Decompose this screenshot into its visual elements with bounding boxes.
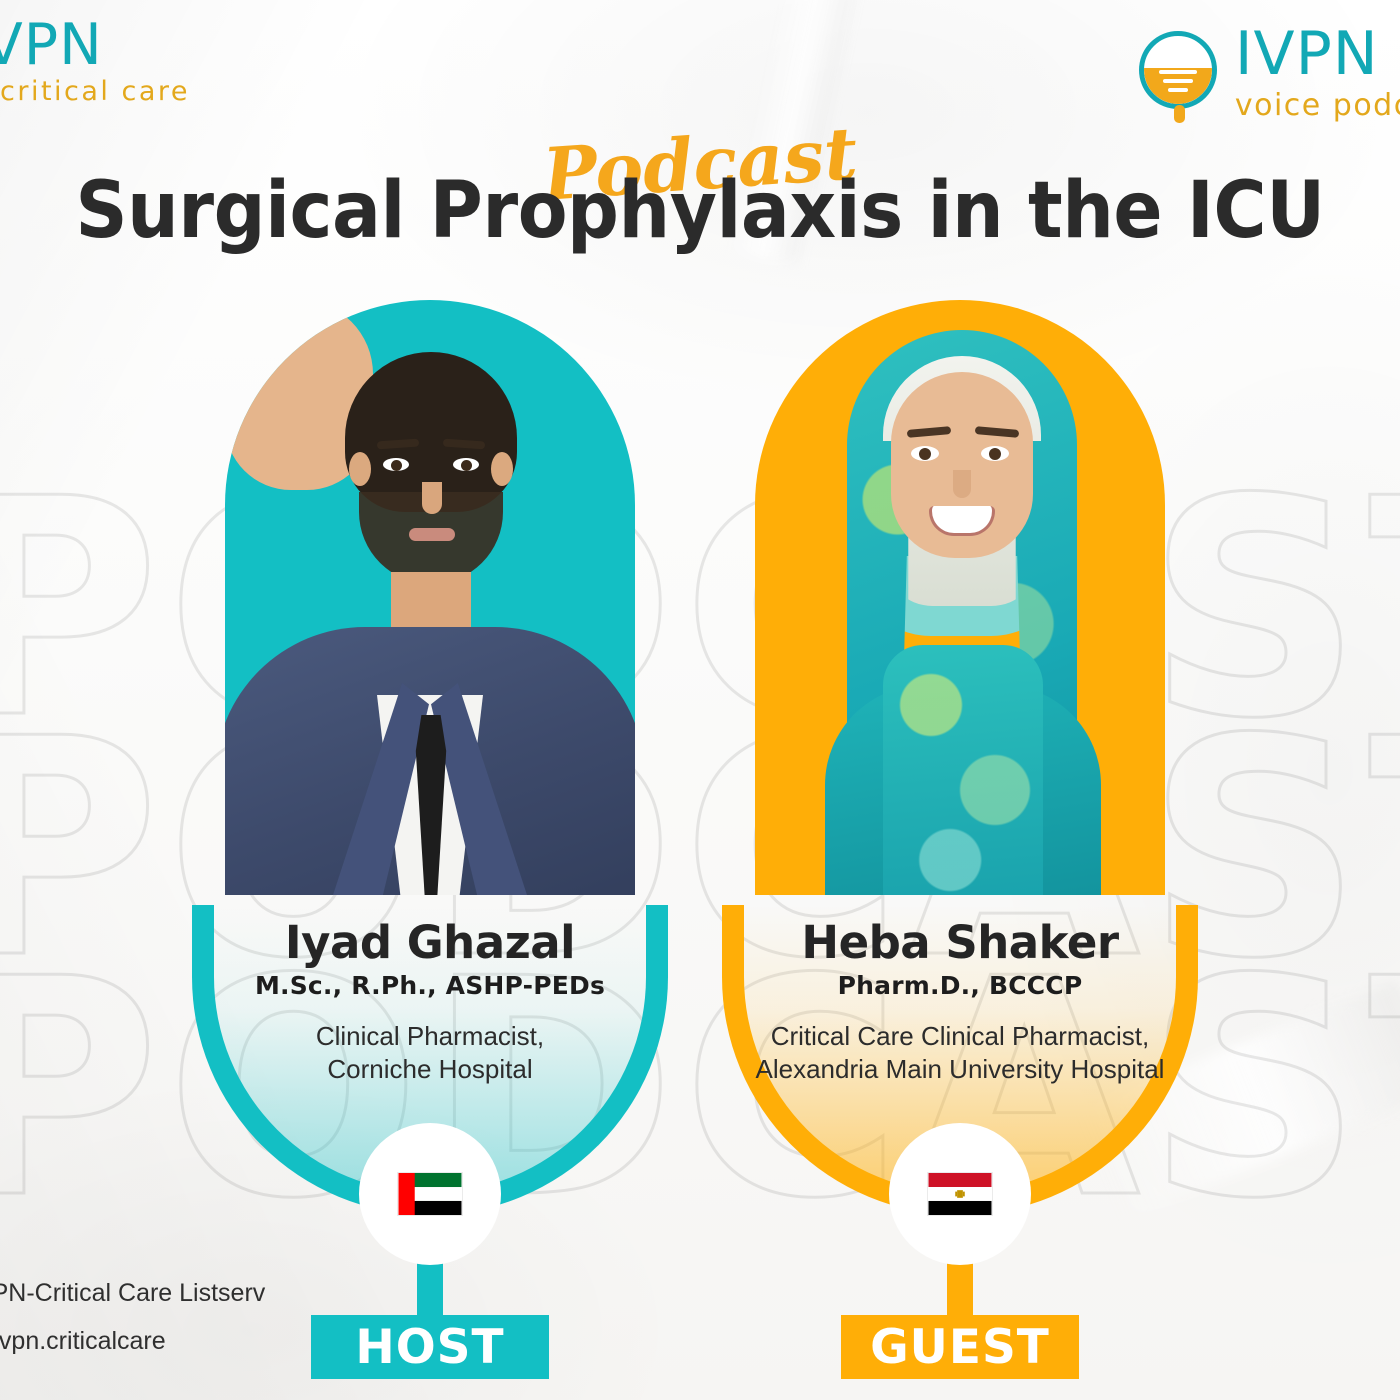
guest-role-badge: GUEST <box>841 1315 1079 1379</box>
guest-flag-disc <box>889 1123 1031 1265</box>
host-card: Iyad Ghazal M.Sc., R.Ph., ASHP-PEDs Clin… <box>170 300 690 1335</box>
guest-affiliation-line2: Alexandria Main University Hospital <box>740 1053 1180 1086</box>
guest-mic-stand: Heba Shaker Pharm.D., BCCCP Critical Car… <box>700 905 1220 1335</box>
logo-tagline: critical care <box>0 76 190 107</box>
logo-wordmark-right: IVPN <box>1235 24 1400 84</box>
host-role-label: HOST <box>355 1320 504 1375</box>
guest-credentials: Pharm.D., BCCCP <box>740 971 1180 1000</box>
footer-contact: IVPN-Critical Care Listserv @ivpn.critic… <box>0 1269 265 1367</box>
host-credentials: M.Sc., R.Ph., ASHP-PEDs <box>210 971 650 1000</box>
guest-card: Heba Shaker Pharm.D., BCCCP Critical Car… <box>700 300 1220 1335</box>
egypt-flag <box>927 1172 993 1216</box>
host-name: Iyad Ghazal <box>210 919 650 967</box>
guest-affiliation-line1: Critical Care Clinical Pharmacist, <box>740 1020 1180 1053</box>
footer-listserv: IVPN-Critical Care Listserv <box>0 1269 265 1318</box>
host-affiliation-line1: Clinical Pharmacist, <box>210 1020 650 1053</box>
guest-role-label: GUEST <box>870 1320 1050 1375</box>
host-role-badge: HOST <box>311 1315 549 1379</box>
ivpn-critical-care-logo[interactable]: IVPN critical care <box>0 16 190 107</box>
title-headline: Surgical Prophylaxis in the ICU <box>49 166 1351 256</box>
host-flag-disc <box>359 1123 501 1265</box>
host-photo <box>225 300 635 895</box>
page-title: Podcast Surgical Prophylaxis in the ICU <box>0 128 1400 256</box>
guest-name: Heba Shaker <box>740 919 1180 967</box>
guest-photo <box>755 300 1165 895</box>
host-affiliation-line2: Corniche Hospital <box>210 1053 650 1086</box>
footer-handle: @ivpn.criticalcare <box>0 1317 265 1366</box>
uae-flag <box>397 1172 463 1216</box>
logo-wordmark: IVPN <box>0 16 190 74</box>
